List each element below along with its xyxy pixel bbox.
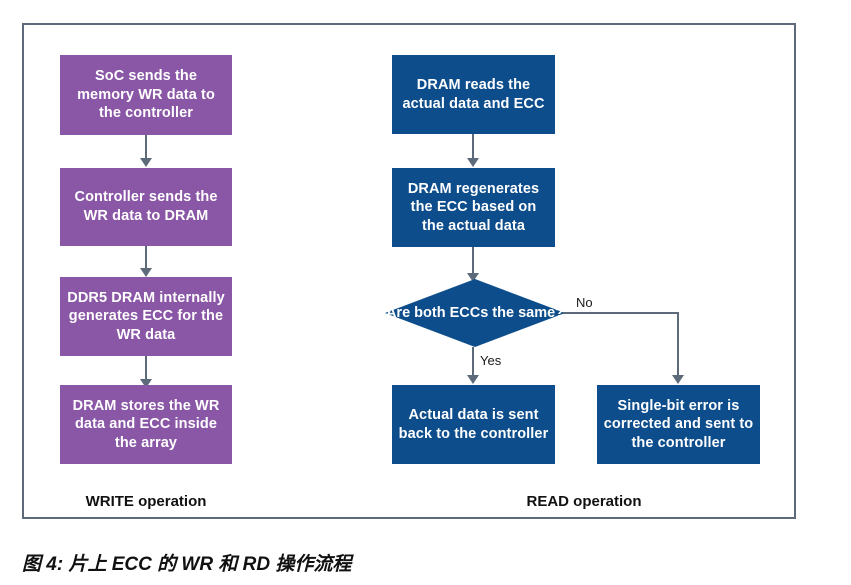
flow-node-dram-reads: DRAM reads the actual data and ECC bbox=[392, 55, 555, 134]
flow-node-controller-sends: Controller sends the WR data to DRAM bbox=[60, 168, 232, 246]
branch-label-yes: Yes bbox=[480, 353, 501, 368]
flow-node-dram-regenerates: DRAM regenerates the ECC based on the ac… bbox=[392, 168, 555, 247]
flow-node-dram-stores: DRAM stores the WR data and ECC inside t… bbox=[60, 385, 232, 464]
flow-node-ecc-compare: Are both ECCs the same? bbox=[385, 279, 565, 347]
branch-label-no: No bbox=[576, 295, 593, 310]
flow-node-single-bit-corrected: Single-bit error is corrected and sent t… bbox=[597, 385, 760, 464]
flow-node-actual-data-sent: Actual data is sent back to the controll… bbox=[392, 385, 555, 464]
flow-node-soc-sends: SoC sends the memory WR data to the cont… bbox=[60, 55, 232, 135]
diagram-frame: SoC sends the memory WR data to the cont… bbox=[22, 23, 796, 519]
figure-caption: 图 4: 片上 ECC 的 WR 和 RD 操作流程 bbox=[22, 549, 351, 576]
flow-node-ddr5-generates-ecc: DDR5 DRAM internally generates ECC for t… bbox=[60, 277, 232, 356]
flow-node-ecc-compare-label: Are both ECCs the same? bbox=[385, 279, 565, 347]
caption-read-operation: READ operation bbox=[494, 493, 674, 510]
caption-write-operation: WRITE operation bbox=[60, 493, 232, 510]
